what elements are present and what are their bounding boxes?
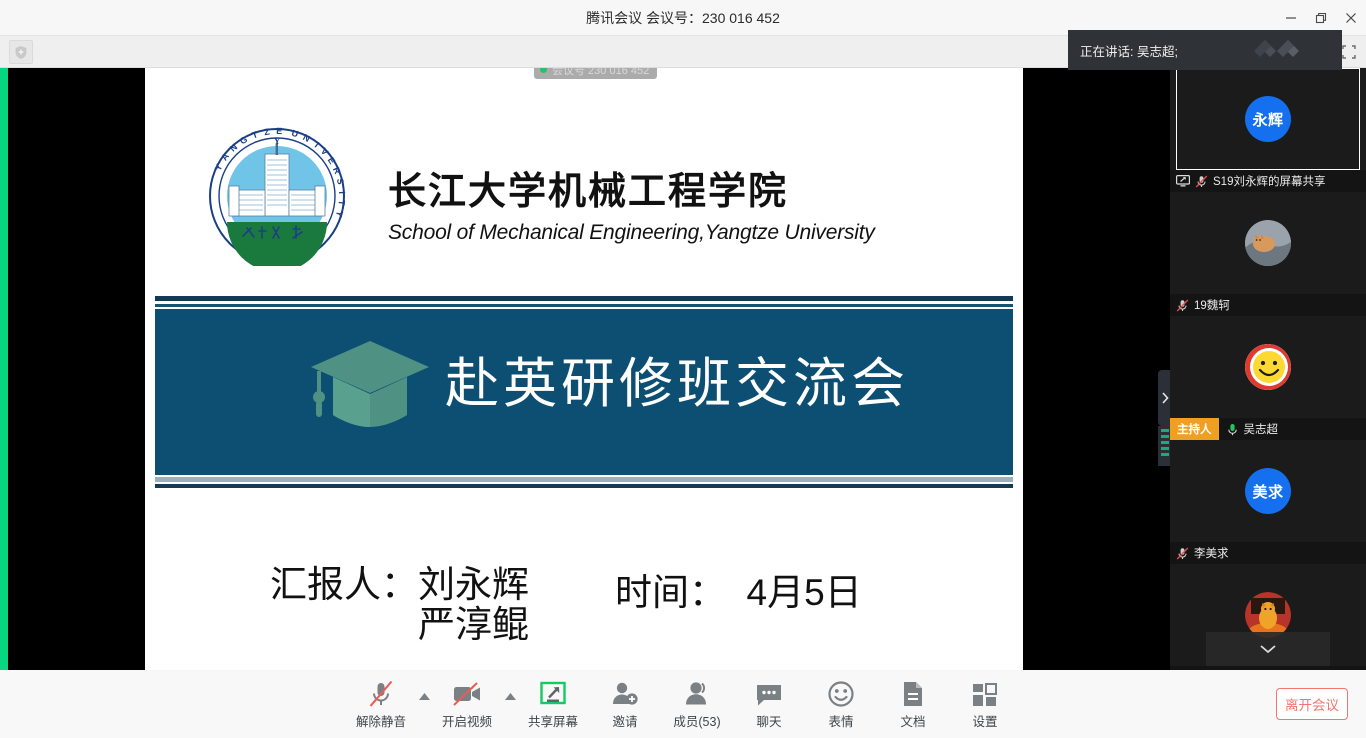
- tile-frame: [1176, 316, 1360, 418]
- participant-name: 19魏轲: [1194, 297, 1230, 313]
- participant-tile[interactable]: 美求: [1170, 440, 1366, 542]
- host-badge: 主持人: [1170, 418, 1219, 440]
- avatar: [1245, 220, 1291, 266]
- mic-active-icon: [1226, 423, 1239, 436]
- members-label: 成员(53): [673, 711, 720, 730]
- share-screen-label: 共享屏幕: [528, 711, 578, 730]
- share-screen-button[interactable]: 共享屏幕: [517, 673, 589, 735]
- mic-muted-icon: [1176, 547, 1189, 560]
- divider-top-2: [155, 304, 1013, 307]
- yangtze-university-logo: Y Y A N G T Z E U N I V E: [207, 126, 347, 266]
- participant-sidebar[interactable]: 永辉 S19刘永辉的屏幕共享: [1170, 68, 1366, 670]
- mic-muted-icon: [1176, 299, 1189, 312]
- sharing-border-left: [0, 68, 8, 670]
- chevron-down-icon[interactable]: [1206, 632, 1330, 666]
- slide-banner: 赴英研修班交流会: [155, 309, 1013, 475]
- chat-button[interactable]: 聊天: [733, 673, 805, 735]
- camera-muted-icon: [452, 678, 482, 708]
- settings-button[interactable]: 设置: [949, 673, 1021, 735]
- invite-label: 邀请: [612, 711, 637, 730]
- participant-tile[interactable]: 永辉: [1170, 68, 1366, 170]
- graduation-cap-icon: [307, 333, 433, 437]
- speaking-toast-text: 正在讲话: 吴志超;: [1080, 41, 1178, 60]
- participant-name: S19刘永辉的屏幕共享: [1213, 173, 1325, 189]
- settings-label: 设置: [972, 711, 997, 730]
- tile-frame: 永辉: [1176, 68, 1360, 170]
- mic-muted-icon: [1195, 175, 1208, 188]
- audio-level-indicator: [1158, 426, 1170, 466]
- video-label: 开启视频: [442, 711, 492, 730]
- document-icon: [901, 678, 925, 708]
- shield-plus-icon[interactable]: [9, 40, 33, 64]
- participant-name-bar: 19魏轲: [1170, 294, 1366, 316]
- meeting-stage: 会议号 230 016 452: [0, 68, 1366, 670]
- svg-text:E: E: [276, 126, 282, 136]
- documents-button[interactable]: 文档: [877, 673, 949, 735]
- status-dot: [540, 68, 547, 73]
- school-name-cn: 长江大学机械工程学院: [388, 170, 1008, 215]
- chat-bubble-icon: [755, 678, 783, 708]
- tile-frame: [1176, 192, 1360, 294]
- presenter-line-2: 严淳鲲: [418, 602, 529, 648]
- mute-label: 解除静音: [356, 711, 406, 730]
- video-options-caret-icon[interactable]: [503, 673, 517, 735]
- svg-text:S: S: [335, 177, 346, 185]
- user-add-icon: [611, 678, 639, 708]
- svg-text:Y: Y: [274, 137, 281, 147]
- sidebar-collapse-handle[interactable]: [1158, 370, 1170, 426]
- meeting-id-text: 会议号 230 016 452: [552, 68, 649, 78]
- participant-name-bar: 李美求: [1170, 542, 1366, 564]
- chat-label: 聊天: [756, 711, 781, 730]
- avatar: 美求: [1245, 468, 1291, 514]
- emoji-button[interactable]: 表情: [805, 673, 877, 735]
- user-icon: [683, 678, 711, 708]
- divider-bottom: [155, 477, 1013, 482]
- mic-options-caret-icon[interactable]: [417, 673, 431, 735]
- speaking-toast: 正在讲话: 吴志超;: [1068, 30, 1342, 70]
- participant-tile[interactable]: [1170, 316, 1366, 418]
- smiley-icon: [827, 678, 855, 708]
- shared-screen-area[interactable]: 会议号 230 016 452: [8, 68, 1170, 670]
- presentation-slide: 会议号 230 016 452: [145, 68, 1023, 670]
- meeting-id-pill: 会议号 230 016 452: [534, 68, 657, 79]
- avatar: [1245, 344, 1291, 390]
- meeting-toolbar: 解除静音 开启视频: [0, 670, 1366, 738]
- school-title-block: 长江大学机械工程学院 School of Mechanical Engineer…: [388, 170, 1008, 245]
- emoji-label: 表情: [828, 711, 853, 730]
- participant-name: 吴志超: [1244, 421, 1279, 437]
- screen-share-icon: [1176, 175, 1190, 187]
- participant-name-bar: S19刘永辉的屏幕共享: [1170, 170, 1366, 192]
- screen-share-icon: [538, 678, 568, 708]
- mute-button[interactable]: 解除静音: [345, 673, 417, 735]
- banner-title: 赴英研修班交流会: [445, 339, 909, 418]
- slide-footer: 汇报人：刘永辉 严淳鲲 时间： 4月5日: [145, 538, 1023, 658]
- divider-top: [155, 296, 1013, 301]
- avatar: 永辉: [1245, 96, 1291, 142]
- toolbar-buttons: 解除静音 开启视频: [0, 670, 1366, 738]
- school-name-en: School of Mechanical Engineering,Yangtze…: [388, 221, 1008, 245]
- participant-tile[interactable]: [1170, 192, 1366, 294]
- participant-name: 李美求: [1194, 545, 1229, 561]
- app-logo-icon: [1252, 38, 1306, 62]
- tile-frame: 美求: [1176, 440, 1360, 542]
- documents-label: 文档: [900, 711, 925, 730]
- video-button[interactable]: 开启视频: [431, 673, 503, 735]
- date-line: 时间： 4月5日: [615, 562, 862, 616]
- leave-meeting-button[interactable]: 离开会议: [1276, 688, 1348, 720]
- invite-button[interactable]: 邀请: [589, 673, 661, 735]
- divider-bottom-2: [155, 484, 1013, 488]
- participant-tile[interactable]: [1170, 564, 1366, 666]
- mic-muted-icon: [368, 678, 394, 708]
- participant-name-bar: 主持人 吴志超: [1170, 418, 1366, 440]
- grid-icon: [972, 678, 998, 708]
- svg-text:I: I: [337, 191, 347, 194]
- members-button[interactable]: 成员(53): [661, 673, 733, 735]
